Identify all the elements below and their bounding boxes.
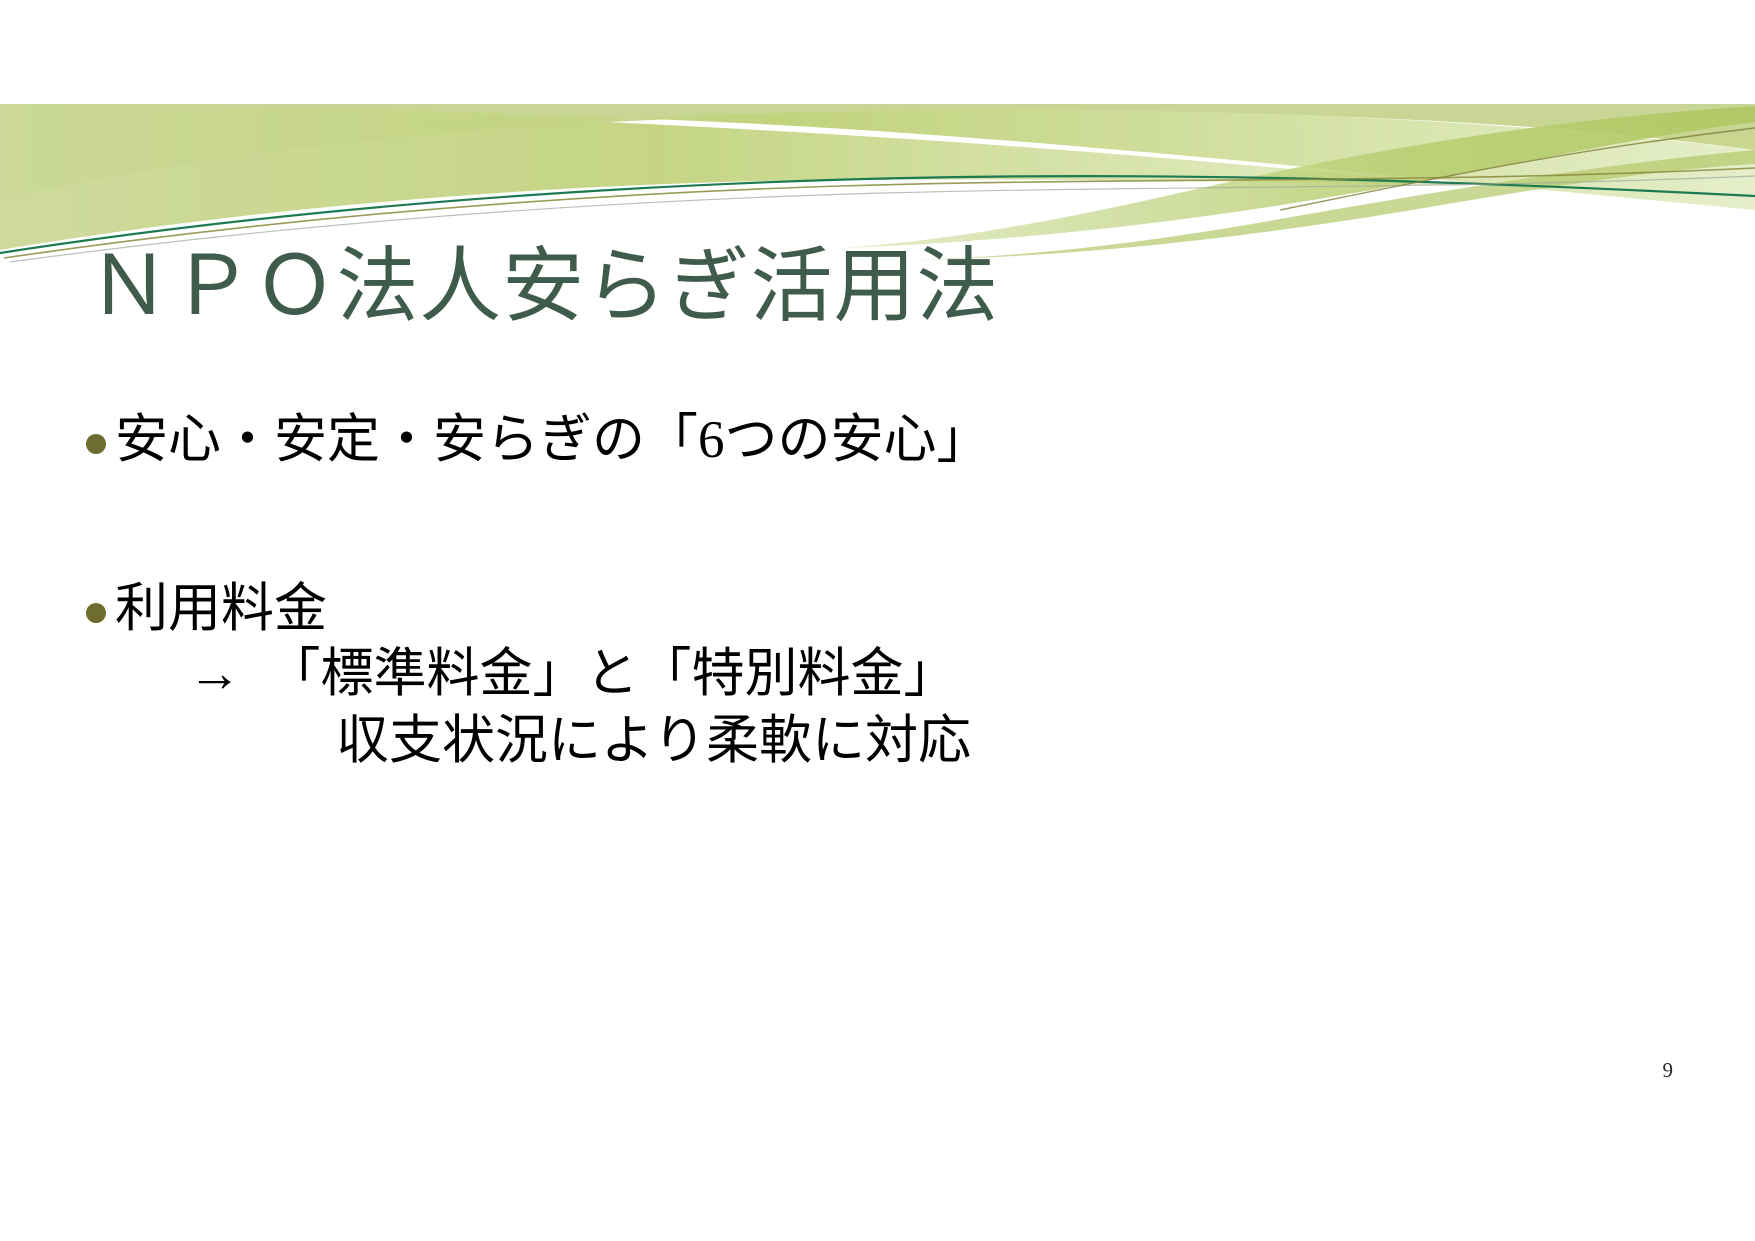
slide-body: 安心・安定・安らぎの「6つの安心」 利用料金 → 「標準料金」と「特別料金」 収… — [86, 408, 1686, 775]
page-title: ＮＰＯ法人安らぎ活用法 — [88, 243, 1668, 332]
page-number: 9 — [1663, 1058, 1674, 1083]
swoosh-ribbon-right — [840, 106, 1755, 248]
list-item: 安心・安定・安らぎの「6つの安心」 — [86, 408, 1686, 473]
bullet-dot-icon — [86, 603, 106, 623]
header-swoosh-decoration — [0, 0, 1755, 270]
swoosh-graphic-icon — [0, 0, 1755, 270]
bullet-label-riyouryoukin: 利用料金 — [115, 577, 327, 642]
sub-line-flexible-response: 収支状況により柔軟に対応 — [86, 708, 1686, 775]
slide-canvas: ＮＰＯ法人安らぎ活用法 安心・安定・安らぎの「6つの安心」 利用料金 → 「標準… — [0, 0, 1755, 1241]
list-item: 利用料金 — [86, 577, 1686, 642]
swoosh-line-olive-2 — [1280, 128, 1755, 210]
swoosh-band-main — [0, 104, 1755, 210]
bullet-label-anshin: 安心・安定・安らぎの「6つの安心」 — [115, 408, 990, 473]
swoosh-mass-left — [0, 104, 1470, 250]
bullet-dot-icon — [86, 434, 106, 454]
sub-line-fee-types: → 「標準料金」と「特別料金」 — [86, 641, 1686, 708]
spacer — [86, 473, 1686, 577]
swoosh-band-upper — [0, 104, 1755, 200]
